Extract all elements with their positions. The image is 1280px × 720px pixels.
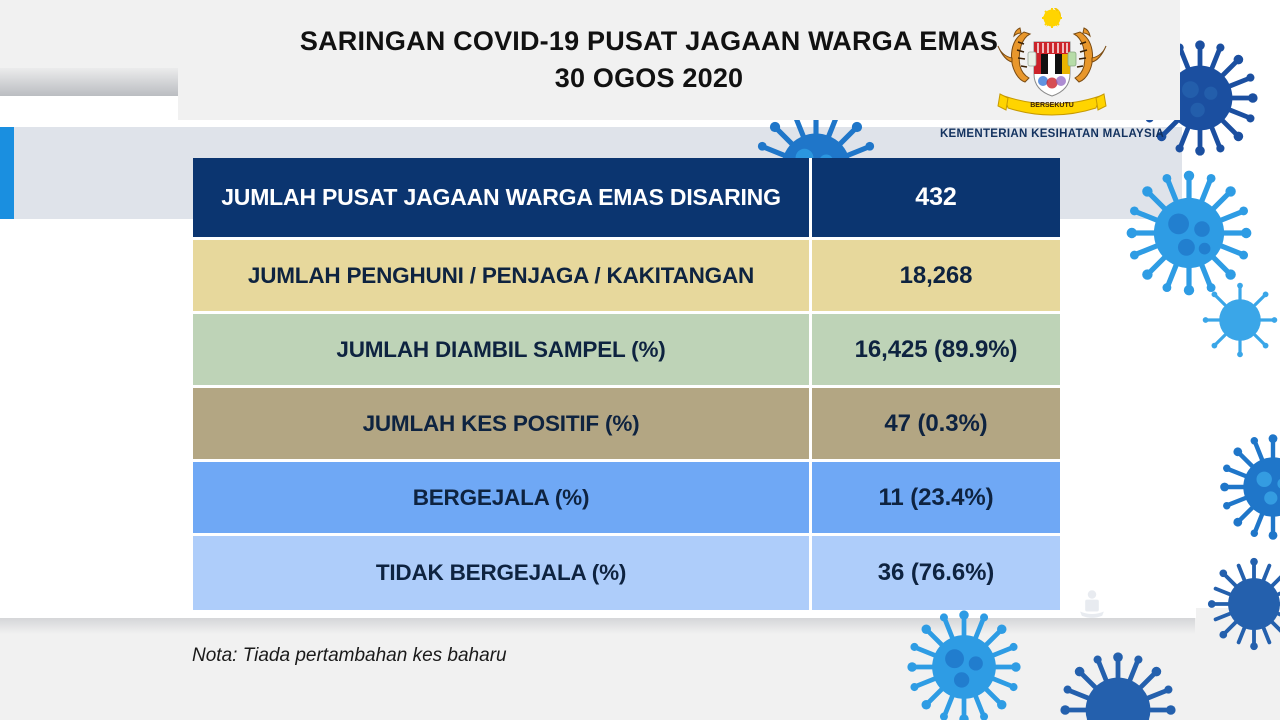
table-row: JUMLAH PENGHUNI / PENJAGA / KAKITANGAN18… — [193, 240, 1060, 314]
row-value: 16,425 (89.9%) — [812, 314, 1060, 388]
blue-accent-bar — [0, 127, 14, 219]
row-label: TIDAK BERGEJALA (%) — [193, 536, 812, 610]
table-body: JUMLAH PUSAT JAGAAN WARGA EMAS DISARING4… — [193, 158, 1060, 610]
coat-of-arms-watermark-icon — [1075, 586, 1109, 620]
row-label: JUMLAH DIAMBIL SAMPEL (%) — [193, 314, 812, 388]
table-row: JUMLAH PUSAT JAGAAN WARGA EMAS DISARING4… — [193, 158, 1060, 240]
coronavirus-icon — [1218, 432, 1280, 542]
table-row: BERGEJALA (%)11 (23.4%) — [193, 462, 1060, 536]
page-title: SARINGAN COVID-19 PUSAT JAGAAN WARGA EMA… — [300, 23, 998, 98]
screening-summary-table: JUMLAH PUSAT JAGAAN WARGA EMAS DISARING4… — [193, 158, 1060, 610]
row-label: JUMLAH KES POSITIF (%) — [193, 388, 812, 462]
ministry-name: KEMENTERIAN KESIHATAN MALAYSIA — [940, 128, 1164, 140]
footnote: Nota: Tiada pertambahan kes baharu — [192, 645, 507, 667]
row-label: BERGEJALA (%) — [193, 462, 812, 536]
row-value: 47 (0.3%) — [812, 388, 1060, 462]
row-label: JUMLAH PUSAT JAGAAN WARGA EMAS DISARING — [193, 158, 812, 240]
coronavirus-icon — [1058, 650, 1178, 720]
coronavirus-icon — [1200, 280, 1280, 360]
row-value: 11 (23.4%) — [812, 462, 1060, 536]
title-line-1: SARINGAN COVID-19 PUSAT JAGAAN WARGA EMA… — [300, 26, 998, 56]
table-row: JUMLAH DIAMBIL SAMPEL (%)16,425 (89.9%) — [193, 314, 1060, 388]
svg-text:BERSEKUTU: BERSEKUTU — [1030, 102, 1074, 109]
malaysia-coat-of-arms-icon: BERSEKUTU — [990, 8, 1114, 126]
table-row: TIDAK BERGEJALA (%)36 (76.6%) — [193, 536, 1060, 610]
row-value: 36 (76.6%) — [812, 536, 1060, 610]
slide-canvas: SARINGAN COVID-19 PUSAT JAGAAN WARGA EMA… — [0, 0, 1280, 720]
row-value: 18,268 — [812, 240, 1060, 314]
row-value: 432 — [812, 158, 1060, 240]
coronavirus-icon — [1124, 168, 1254, 298]
table-row: JUMLAH KES POSITIF (%)47 (0.3%) — [193, 388, 1060, 462]
title-line-2: 30 OGOS 2020 — [300, 60, 998, 97]
row-label: JUMLAH PENGHUNI / PENJAGA / KAKITANGAN — [193, 240, 812, 314]
coronavirus-icon — [905, 608, 1023, 720]
ministry-logo: BERSEKUTU KEMENTERIAN KESIHATAN MALAYSIA — [952, 8, 1152, 156]
coronavirus-icon — [1206, 556, 1280, 652]
